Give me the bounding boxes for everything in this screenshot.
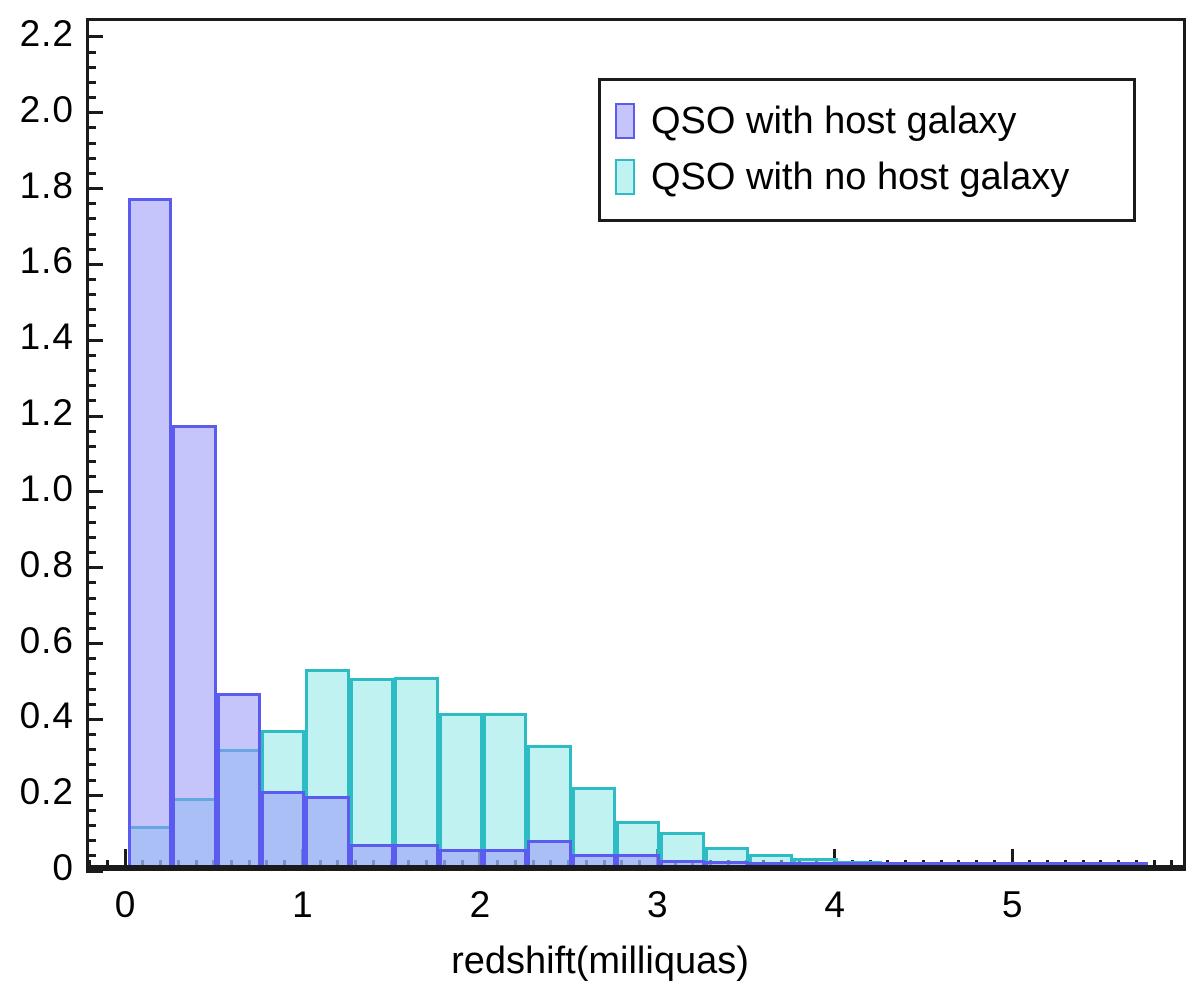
y-tick-minor (86, 779, 96, 782)
legend-label-nohost: QSO with no host galaxy (651, 158, 1069, 196)
y-tick-label: 1.2 (0, 392, 74, 434)
bar-host-0 (128, 198, 172, 865)
y-tick-major (86, 415, 103, 418)
y-tick-minor (86, 248, 96, 251)
y-tick-minor (86, 142, 96, 145)
y-tick-minor (86, 688, 96, 691)
y-tick-minor (86, 172, 96, 175)
bar-nohost-7 (439, 713, 483, 865)
x-tick-label: 0 (115, 884, 136, 926)
y-tick-major (86, 566, 103, 569)
y-tick-minor (86, 324, 96, 327)
y-tick-minor (86, 733, 96, 736)
bar-host-12 (660, 860, 704, 865)
bar-host-20 (1015, 862, 1059, 865)
legend-swatch-host (615, 103, 635, 139)
legend-swatch-nohost (615, 159, 635, 195)
bar-host-22 (1104, 862, 1148, 865)
y-tick-minor (86, 475, 96, 478)
legend-item-nohost[interactable]: QSO with no host galaxy (615, 149, 1123, 205)
bar-host-4 (305, 796, 349, 865)
bar-host-3 (261, 791, 305, 865)
x-tick-label: 3 (647, 884, 668, 926)
x-tick-label: 2 (470, 884, 491, 926)
legend-item-host[interactable]: QSO with host galaxy (615, 93, 1123, 149)
y-tick-major (86, 263, 103, 266)
y-tick-minor (86, 627, 96, 630)
bar-host-18 (926, 862, 970, 865)
bar-host-21 (1059, 862, 1103, 865)
y-tick-major (86, 490, 103, 493)
bar-nohost-5 (350, 678, 394, 865)
y-tick-minor (86, 581, 96, 584)
y-tick-minor (86, 66, 96, 69)
y-tick-minor (86, 96, 96, 99)
y-tick-label: 1.8 (0, 165, 74, 207)
bar-host-14 (749, 862, 793, 865)
bar-host-11 (616, 854, 660, 865)
y-tick-minor (86, 657, 96, 660)
y-tick-minor (86, 399, 96, 402)
y-tick-minor (86, 384, 96, 387)
y-tick-minor (86, 839, 96, 842)
y-tick-major (86, 187, 103, 190)
y-tick-minor (86, 506, 96, 509)
y-tick-label: 0.2 (0, 771, 74, 813)
x-tick-label: 4 (824, 884, 845, 926)
y-tick-minor (86, 809, 96, 812)
y-tick-minor (86, 854, 96, 857)
bar-host-1 (172, 425, 216, 865)
y-tick-major (86, 794, 103, 797)
bar-host-8 (483, 849, 527, 865)
bar-nohost-6 (394, 677, 438, 865)
y-tick-major (86, 718, 103, 721)
y-tick-minor (86, 551, 96, 554)
x-tick-minor (88, 860, 91, 871)
x-tick-label: 5 (1002, 884, 1023, 926)
y-tick-major (86, 35, 103, 38)
x-tick-label: 1 (292, 884, 313, 926)
x-tick-minor (1170, 860, 1173, 871)
bar-host-5 (350, 844, 394, 865)
y-tick-label: 0.4 (0, 695, 74, 737)
bar-nohost-8 (483, 713, 527, 865)
bar-host-7 (439, 849, 483, 865)
x-axis-title: redshift(milliquas) (0, 940, 1200, 983)
x-tick-minor (1153, 860, 1156, 871)
y-tick-minor (86, 217, 96, 220)
legend-label-host: QSO with host galaxy (651, 102, 1016, 140)
y-tick-minor (86, 293, 96, 296)
bar-host-17 (882, 862, 926, 865)
y-tick-minor (86, 157, 96, 160)
y-tick-label: 0 (0, 847, 74, 889)
y-tick-minor (86, 445, 96, 448)
y-tick-minor (86, 703, 96, 706)
histogram-figure: 00.20.40.60.81.01.21.41.61.82.02.2 01234… (0, 0, 1200, 1002)
y-tick-major (86, 642, 103, 645)
y-tick-label: 0.6 (0, 620, 74, 662)
x-tick-minor (106, 860, 109, 871)
y-tick-minor (86, 763, 96, 766)
y-tick-minor (86, 597, 96, 600)
y-tick-minor (86, 308, 96, 311)
y-tick-label: 2.2 (0, 13, 74, 55)
y-tick-major (86, 339, 103, 342)
y-tick-minor (86, 81, 96, 84)
y-tick-label: 1.0 (0, 468, 74, 510)
y-tick-minor (86, 51, 96, 54)
y-tick-label: 0.8 (0, 544, 74, 586)
bar-host-2 (217, 693, 261, 865)
chart-legend: QSO with host galaxy QSO with no host ga… (598, 78, 1136, 222)
bar-host-6 (394, 844, 438, 865)
bar-host-10 (572, 854, 616, 865)
bar-host-16 (838, 862, 882, 865)
y-tick-minor (86, 233, 96, 236)
y-tick-minor (86, 369, 96, 372)
y-tick-label: 1.6 (0, 240, 74, 282)
y-tick-minor (86, 202, 96, 205)
bar-host-15 (793, 862, 837, 865)
y-tick-minor (86, 460, 96, 463)
y-tick-minor (86, 824, 96, 827)
y-tick-major (86, 111, 103, 114)
y-tick-minor (86, 126, 96, 129)
y-tick-minor (86, 748, 96, 751)
x-tick-major (1011, 849, 1014, 871)
bar-host-9 (527, 840, 571, 865)
y-tick-label: 2.0 (0, 89, 74, 131)
bar-host-13 (705, 861, 749, 865)
y-tick-minor (86, 278, 96, 281)
y-tick-minor (86, 430, 96, 433)
y-tick-minor (86, 521, 96, 524)
bar-host-19 (971, 862, 1015, 865)
y-tick-minor (86, 354, 96, 357)
y-tick-minor (86, 612, 96, 615)
x-tick-major (124, 849, 127, 871)
y-tick-minor (86, 672, 96, 675)
y-tick-label: 1.4 (0, 316, 74, 358)
y-tick-minor (86, 536, 96, 539)
